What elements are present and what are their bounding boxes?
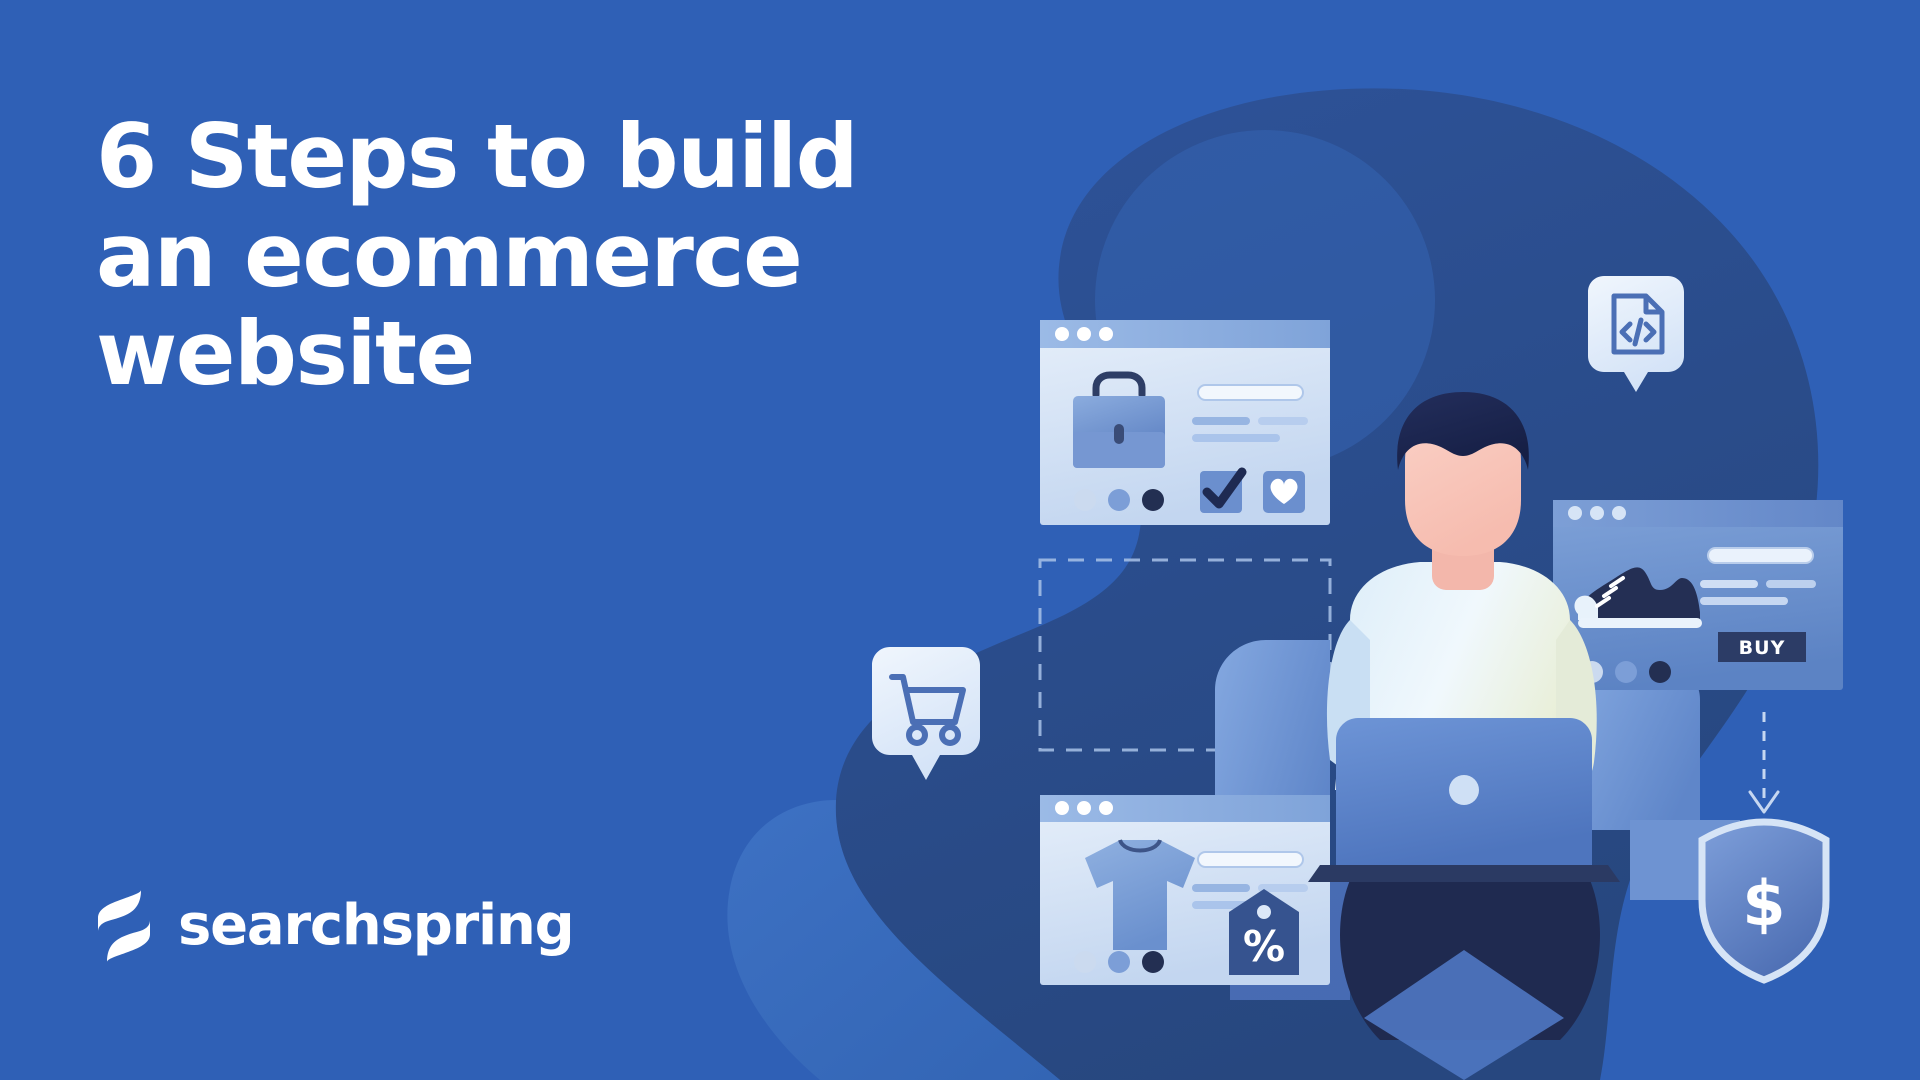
window-dot-2[interactable]: [1077, 801, 1091, 815]
checkbox-checked[interactable]: [1200, 471, 1242, 513]
swatch-2[interactable]: [1108, 489, 1130, 511]
card-text-line-1: [1700, 580, 1758, 588]
card-text-line-2: [1258, 417, 1308, 425]
secure-payment-shield[interactable]: $: [1702, 822, 1826, 980]
swatch-2[interactable]: [1108, 951, 1130, 973]
card-text-line-1: [1192, 884, 1250, 892]
hero-illustration: %: [0, 0, 1920, 1080]
card-title-line: [1198, 385, 1303, 400]
window-dot-1[interactable]: [1055, 801, 1069, 815]
poster-canvas: 6 Steps to build an ecommerce website se…: [0, 0, 1920, 1080]
code-file-badge[interactable]: [1588, 276, 1684, 392]
swatch-1[interactable]: [1074, 951, 1096, 973]
laptop-base: [1308, 865, 1620, 882]
badge-bubble: [872, 647, 980, 780]
window-dot-3[interactable]: [1099, 801, 1113, 815]
swatch-3[interactable]: [1142, 951, 1164, 973]
window-dot-3[interactable]: [1099, 327, 1113, 341]
swatch-2[interactable]: [1615, 661, 1637, 683]
window-dot-1[interactable]: [1055, 327, 1069, 341]
card-text-line-3: [1192, 434, 1280, 442]
product-card-tshirt[interactable]: %: [1040, 795, 1330, 985]
card-text-line-2: [1766, 580, 1816, 588]
product-card-briefcase[interactable]: [1040, 320, 1330, 525]
window-dot-2[interactable]: [1590, 506, 1604, 520]
swatch-3[interactable]: [1649, 661, 1671, 683]
card-title-line: [1708, 548, 1813, 563]
product-card-shoe[interactable]: BUY: [1553, 500, 1843, 690]
shield-dollar-symbol: $: [1742, 867, 1785, 940]
swatch-3[interactable]: [1142, 489, 1164, 511]
favorite-button[interactable]: [1263, 471, 1305, 513]
card-text-line-1: [1192, 417, 1250, 425]
buy-button-label: BUY: [1739, 637, 1786, 659]
buy-button[interactable]: BUY: [1718, 632, 1806, 662]
discount-symbol: %: [1243, 922, 1285, 971]
swatch-1[interactable]: [1074, 489, 1096, 511]
window-dot-3[interactable]: [1612, 506, 1626, 520]
window-dot-1[interactable]: [1568, 506, 1582, 520]
person-at-laptop: [1308, 392, 1620, 1080]
laptop[interactable]: [1308, 718, 1620, 882]
window-dot-2[interactable]: [1077, 327, 1091, 341]
laptop-logo-dot: [1449, 775, 1479, 805]
dashed-down-arrow: [1750, 712, 1778, 812]
shopping-cart-badge[interactable]: [872, 647, 980, 780]
card-title-line: [1198, 852, 1303, 867]
card-text-line-3: [1700, 597, 1788, 605]
